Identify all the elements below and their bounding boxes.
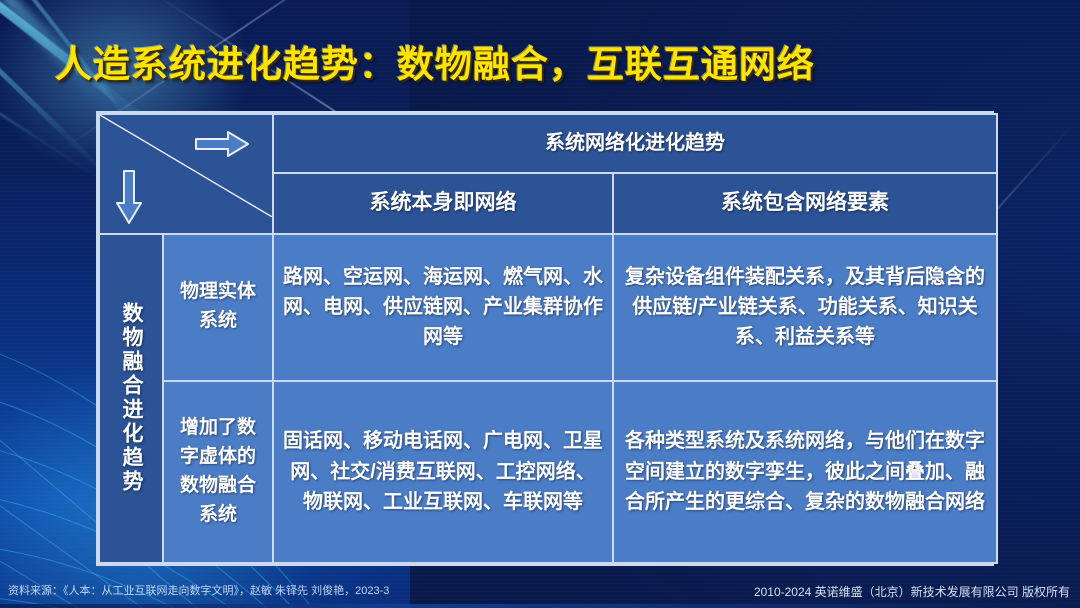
cell-row2-col1: 固话网、移动电话网、广电网、卫星网、社交/消费互联网、工控网络、物联网、工业互联…	[273, 381, 613, 563]
arrow-down-icon	[114, 169, 144, 225]
table-header-row-top: 系统网络化进化趋势	[99, 114, 997, 173]
column-header-1: 系统本身即网络	[273, 173, 613, 234]
row-label-2: 增加了数字虚体的数物融合系统	[163, 381, 273, 563]
comparison-table: 系统网络化进化趋势 系统本身即网络 系统包含网络要素 数物融合进化趋势 物理实体…	[96, 111, 994, 566]
column-header-2: 系统包含网络要素	[613, 173, 997, 234]
table-row: 增加了数字虚体的数物融合系统 固话网、移动电话网、广电网、卫星网、社交/消费互联…	[99, 381, 997, 563]
copyright-note: 2010-2024 英诺维盛（北京）新技术发展有限公司 版权所有	[754, 583, 1070, 600]
cell-row2-col2: 各种类型系统及系统网络，与他们在数字空间建立的数字孪生，彼此之间叠加、融合所产生…	[613, 381, 997, 563]
table-row: 数物融合进化趋势 物理实体系统 路网、空运网、海运网、燃气网、水网、电网、供应链…	[99, 234, 997, 381]
row-label-1: 物理实体系统	[163, 234, 273, 381]
arrow-right-icon	[194, 129, 250, 159]
bottom-bar	[0, 604, 1080, 608]
page-title: 人造系统进化趋势：数物融合，互联互通网络	[55, 34, 1035, 88]
row-group-label-text: 数物融合进化趋势	[115, 302, 147, 494]
table-top-header: 系统网络化进化趋势	[273, 114, 997, 173]
source-note: 资料来源：《人本：从工业互联网走向数字文明》，赵敏 朱铎先 刘俊艳，2023-3	[8, 582, 389, 598]
corner-cell	[99, 114, 273, 234]
cell-row1-col1: 路网、空运网、海运网、燃气网、水网、电网、供应链网、产业集群协作网等	[273, 234, 613, 381]
row-group-label: 数物融合进化趋势	[99, 234, 163, 563]
cell-row1-col2: 复杂设备组件装配关系，及其背后隐含的供应链/产业链关系、功能关系、知识关系、利益…	[613, 234, 997, 381]
